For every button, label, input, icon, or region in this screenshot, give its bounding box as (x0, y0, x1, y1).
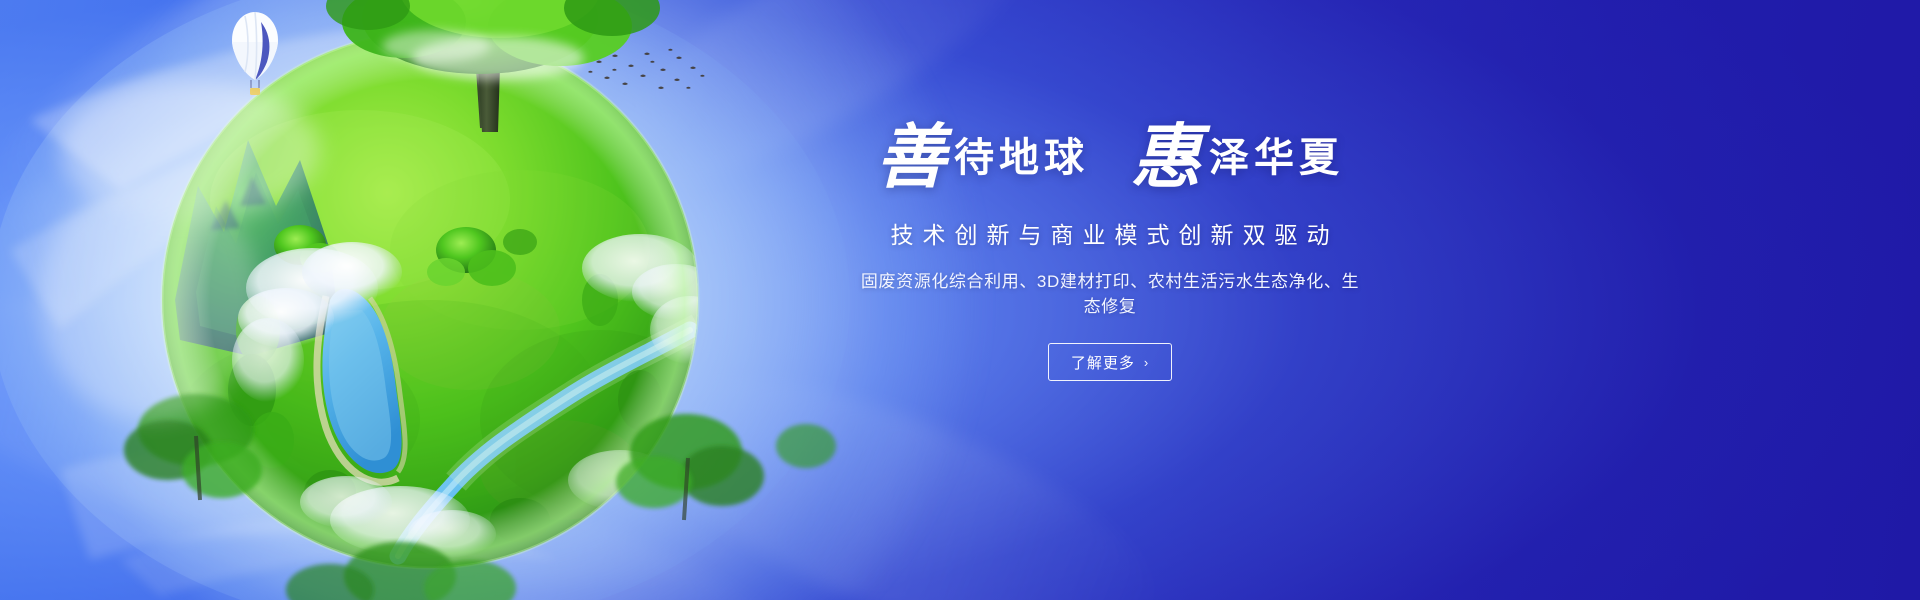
chevron-right-icon: › (1144, 356, 1149, 369)
tiny-planet-artwork (0, 0, 860, 600)
cta-row: 了解更多 › (860, 343, 1360, 381)
headline-char-shan: 善 (876, 124, 946, 194)
hero-copy: 善 待地球 惠 泽华夏 技术创新与商业模式创新双驱动 固废资源化综合利用、3D建… (860, 118, 1360, 381)
hero-banner: 善 待地球 惠 泽华夏 技术创新与商业模式创新双驱动 固废资源化综合利用、3D建… (0, 0, 1920, 600)
headline-char-hui: 惠 (1131, 124, 1201, 194)
page-title: 善 待地球 惠 泽华夏 (860, 118, 1360, 188)
headline-daidiqiu: 待地球 (946, 138, 1089, 178)
hero-subtitle: 技术创新与商业模式创新双驱动 (860, 216, 1360, 250)
learn-more-label: 了解更多 (1071, 352, 1135, 373)
learn-more-button[interactable]: 了解更多 › (1048, 343, 1172, 381)
hero-description: 固废资源化综合利用、3D建材打印、农村生活污水生态净化、生态修复 (860, 267, 1360, 317)
headline-zehuaxia: 泽华夏 (1201, 138, 1344, 178)
